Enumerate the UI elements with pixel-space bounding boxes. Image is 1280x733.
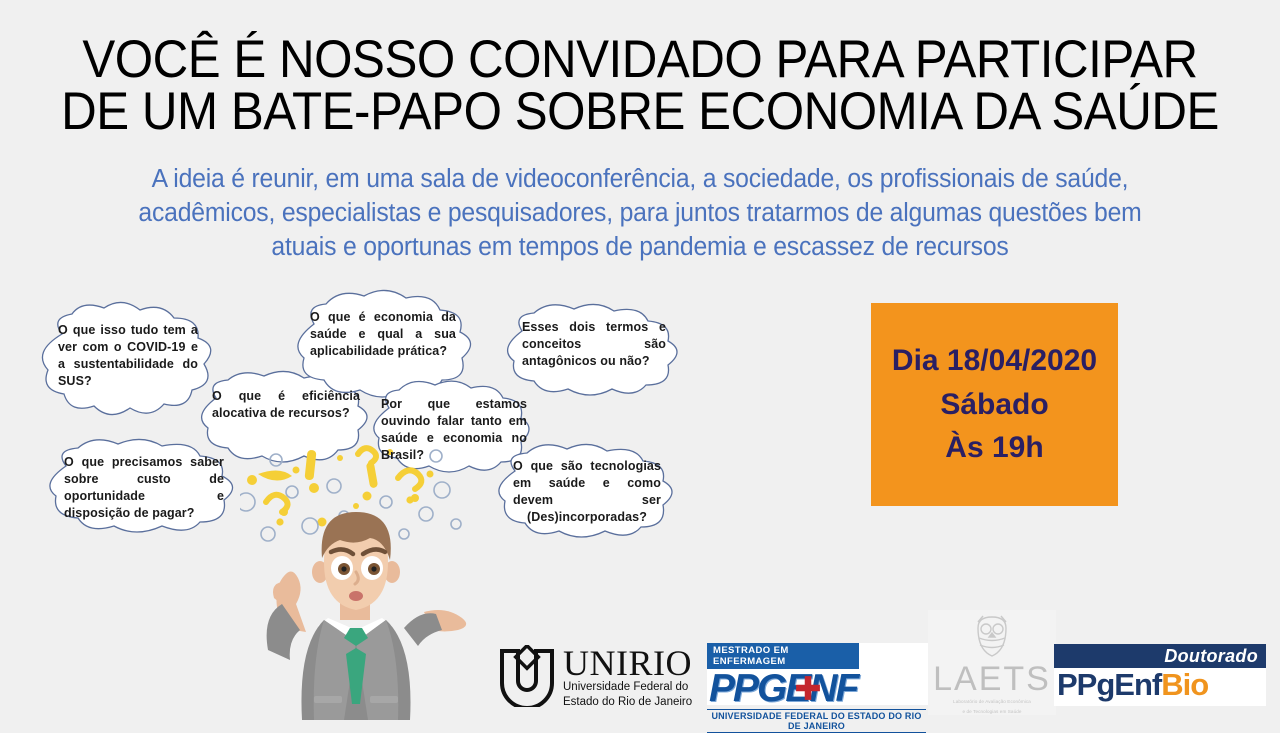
- ppgenfbio-wordmark-part1: PPgEnf: [1057, 667, 1161, 702]
- subtitle: A ideia é reunir, em uma sala de videoco…: [40, 163, 1240, 265]
- ppgenf-bottom-band: UNIVERSIDADE FEDERAL DO ESTADO DO RIO DE…: [707, 709, 926, 733]
- thought-bubble-text: O que é economia da saúde e qual a sua a…: [310, 309, 456, 360]
- thought-bubble: O que precisamos saber sobre custo de op…: [36, 440, 246, 532]
- thought-bubble: Por que estamos ouvindo falar tanto em s…: [365, 382, 537, 472]
- thought-bubble-text: O que precisamos saber sobre custo de op…: [64, 454, 224, 523]
- ppgenfbio-top-band-label: Doutorado: [1164, 646, 1258, 667]
- medical-cross-icon: [795, 675, 821, 701]
- title-line-1: VOCÊ É NOSSO CONVIDADO PARA PARTICIPAR: [45, 34, 1235, 86]
- logo-ppgenf: MESTRADO EM ENFERMAGEM PPGENF UNIVERSIDA…: [707, 643, 929, 705]
- unirio-emblem-icon: [498, 645, 556, 707]
- event-time: Às 19h: [945, 429, 1043, 467]
- ppgenf-wordmark: PPGENF: [709, 667, 857, 710]
- subtitle-line-2: acadêmicos, especialistas e pesquisadore…: [58, 197, 1222, 231]
- thought-bubble: O que são tecnologias em saúde e como de…: [487, 445, 683, 537]
- logo-unirio: UNIRIO Universidade Federal do Estado do…: [498, 645, 710, 715]
- ppgenfbio-wordmark-part2: Bio: [1161, 667, 1208, 702]
- event-date-box: Dia 18/04/2020 Sábado Às 19h: [871, 303, 1118, 506]
- logo-laets: LAETS Laboratório de Avaliação Econômica…: [928, 610, 1056, 715]
- ppgenf-top-band: MESTRADO EM ENFERMAGEM: [707, 643, 859, 669]
- subtitle-line-3: atuais e oportunas em tempos de pandemia…: [58, 231, 1222, 265]
- poster-canvas: VOCÊ É NOSSO CONVIDADO PARA PARTICIPAR D…: [0, 0, 1280, 720]
- thought-bubble-text: O que isso tudo tem a ver com o COVID-19…: [58, 322, 198, 391]
- event-date: Dia 18/04/2020: [892, 342, 1097, 380]
- unirio-subtitle-line-2: Estado do Rio de Janeiro: [563, 696, 692, 710]
- laets-subtitle-line-1: Laboratório de Avaliação Econômica: [928, 699, 1056, 706]
- title-line-2: DE UM BATE-PAPO SOBRE ECONOMIA DA SAÚDE: [45, 86, 1235, 138]
- owl-icon: [972, 614, 1012, 660]
- laets-wordmark: LAETS: [928, 662, 1056, 696]
- laets-subtitle-line-2: e de Tecnologias em Saúde: [928, 709, 1056, 716]
- subtitle-line-1: A ideia é reunir, em uma sala de videoco…: [58, 163, 1222, 197]
- unirio-subtitle-line-1: Universidade Federal do: [563, 681, 692, 695]
- thought-bubble-text: Esses dois termos e conceitos são antagô…: [522, 319, 666, 370]
- thought-bubble-text: O que é eficiência alocativa de recursos…: [212, 388, 360, 422]
- ppgenf-wordmark-row: PPGENF: [707, 669, 929, 709]
- event-weekday: Sábado: [940, 386, 1048, 424]
- page-title: VOCÊ É NOSSO CONVIDADO PARA PARTICIPAR D…: [0, 34, 1280, 139]
- logo-ppgenfbio: Doutorado PPgEnfBio: [1054, 644, 1266, 706]
- unirio-wordmark: UNIRIO: [563, 647, 692, 680]
- ppgenfbio-top-band: Doutorado: [1054, 644, 1266, 668]
- ppgenfbio-wordmark: PPgEnfBio: [1054, 669, 1266, 702]
- confused-man-illustration: [228, 500, 488, 720]
- thought-bubble-text: O que são tecnologias em saúde e como de…: [513, 458, 661, 527]
- thought-bubble-text: Por que estamos ouvindo falar tanto em s…: [381, 396, 527, 465]
